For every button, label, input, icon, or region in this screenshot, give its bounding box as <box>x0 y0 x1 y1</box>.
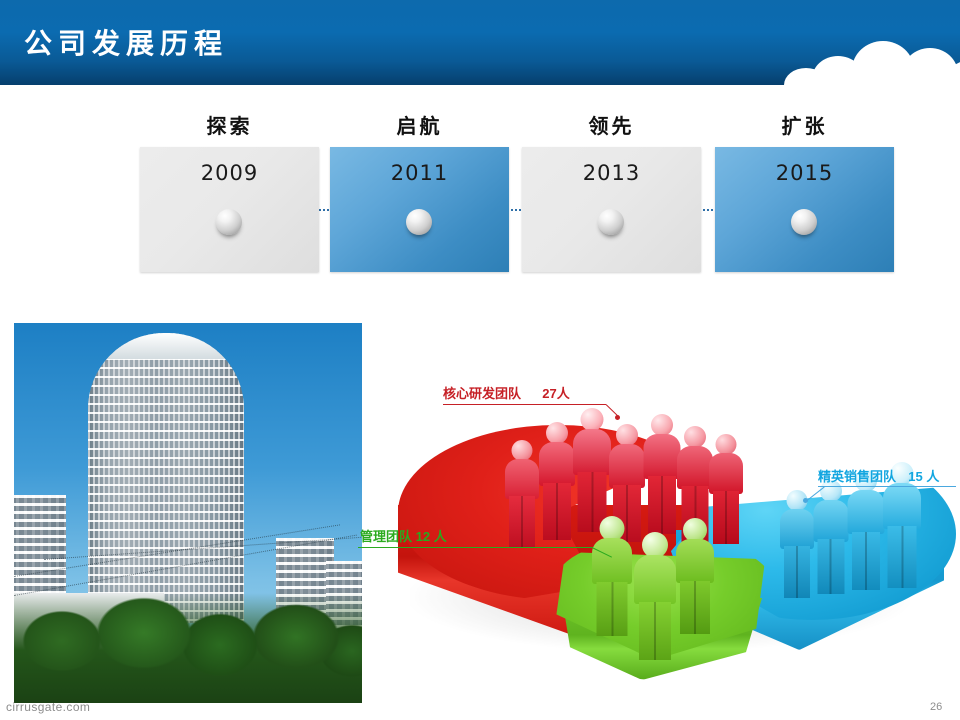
callout-core-rnd-dot <box>615 415 620 420</box>
callout-sales-dot <box>803 498 808 503</box>
person-icon <box>539 422 575 540</box>
callout-sales-rule <box>818 486 956 487</box>
callout-management: 管理团队 12 人 <box>360 526 447 545</box>
milestone-year-2: 2011 <box>330 161 509 185</box>
milestone-marker-3 <box>598 209 624 235</box>
milestone-card-1[interactable]: 2009 <box>140 147 319 272</box>
page-title: 公司发展历程 <box>24 22 228 62</box>
callout-core-rnd: 核心研发团队 27人 <box>443 383 570 402</box>
milestone-marker-4 <box>791 209 817 235</box>
callout-core-rnd-rule <box>443 404 606 405</box>
callout-core-rnd-name: 核心研发团队 <box>443 386 521 401</box>
milestone-marker-1 <box>216 209 242 235</box>
callout-core-rnd-value: 27人 <box>542 386 569 401</box>
person-icon <box>592 516 632 636</box>
callout-sales: 精英销售团队 15 人 <box>818 466 939 485</box>
milestone-card-2[interactable]: 2011 <box>330 147 509 272</box>
person-icon <box>505 440 539 548</box>
milestone-marker-2 <box>406 209 432 235</box>
callout-sales-value: 15 人 <box>908 469 939 484</box>
page-number: 26 <box>930 701 942 713</box>
person-icon <box>634 532 676 660</box>
milestone-year-4: 2015 <box>715 161 894 185</box>
cloud-decoration <box>790 38 960 85</box>
person-icon <box>780 490 814 598</box>
callout-management-name: 管理团队 <box>360 529 412 544</box>
milestone-label-1: 探索 <box>140 110 319 139</box>
slide-banner: 公司发展历程 <box>0 0 960 85</box>
milestone-year-1: 2009 <box>140 161 319 185</box>
slide-root: 公司发展历程 探索 启航 领先 扩张 2009 2011 2013 <box>0 0 960 720</box>
figurine-group-management <box>592 500 722 645</box>
person-icon <box>813 480 848 594</box>
milestone-label-4: 扩张 <box>715 110 894 139</box>
callout-sales-name: 精英销售团队 <box>818 469 896 484</box>
callout-management-value: 12 人 <box>416 529 447 544</box>
person-icon <box>676 518 714 634</box>
milestone-label-2: 启航 <box>330 110 509 139</box>
milestone-label-3: 领先 <box>522 110 701 139</box>
person-icon <box>847 470 884 590</box>
callout-management-rule <box>358 547 592 548</box>
milestone-card-4[interactable]: 2015 <box>715 147 894 272</box>
milestone-card-3[interactable]: 2013 <box>522 147 701 272</box>
site-watermark: cirrusgate.com <box>6 700 90 714</box>
office-building-photo <box>14 323 362 703</box>
milestone-year-3: 2013 <box>522 161 701 185</box>
photo-main-tower <box>88 333 244 623</box>
photo-trees <box>14 593 362 703</box>
